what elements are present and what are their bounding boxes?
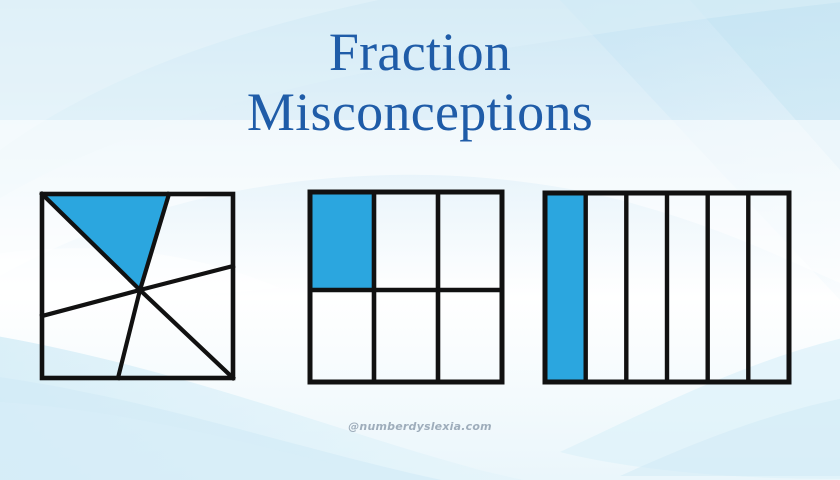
watermark-text: @numberdyslexia.com (348, 420, 492, 433)
figure-3-partition-lines (586, 193, 749, 382)
page-title: Fraction Misconceptions (0, 22, 840, 143)
figure-square-six-unequal-wedges (38, 190, 237, 382)
page-title-line-1: Fraction (0, 22, 840, 82)
figure-rectangle-six-equal-strips (541, 189, 793, 386)
slide-canvas: Fraction Misconceptions (0, 0, 840, 480)
figure-3-shaded-region (545, 193, 586, 382)
page-title-line-2: Misconceptions (0, 82, 840, 142)
watermark-credit: @numberdyslexia.com (0, 420, 840, 433)
figure-2-shaded-region (310, 192, 374, 290)
figure-1-shaded-region (42, 194, 169, 290)
figure-rectangle-six-cells-unequal-rows (306, 188, 506, 386)
